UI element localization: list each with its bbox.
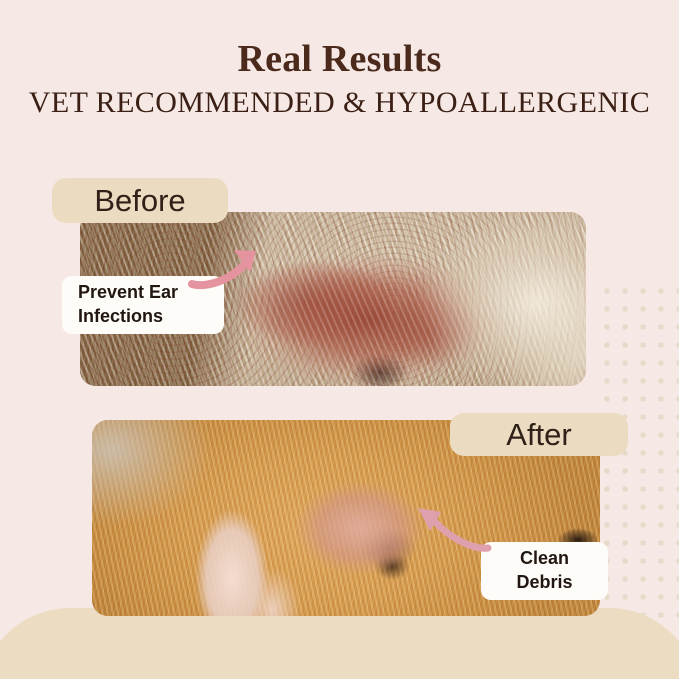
page-title: Real Results: [0, 40, 679, 80]
page-subtitle: VET RECOMMENDED & HYPOALLERGENIC: [0, 86, 679, 119]
curved-arrow-up-right-icon: [188, 238, 278, 294]
promo-graphic: Real Results VET RECOMMENDED & HYPOALLER…: [0, 0, 679, 679]
after-badge-label: After: [506, 419, 571, 450]
beige-rounded-banner-shape: [0, 608, 679, 679]
curved-arrow-left-icon: [408, 500, 494, 556]
before-callout-line-2: Infections: [78, 305, 224, 329]
before-badge: Before: [52, 178, 228, 223]
before-badge-label: Before: [94, 185, 185, 216]
after-badge: After: [450, 413, 628, 456]
after-callout: Clean Debris: [481, 542, 608, 600]
after-callout-line-2: Debris: [516, 571, 572, 595]
after-callout-line-1: Clean: [520, 547, 569, 571]
header-block: Real Results VET RECOMMENDED & HYPOALLER…: [0, 40, 679, 119]
